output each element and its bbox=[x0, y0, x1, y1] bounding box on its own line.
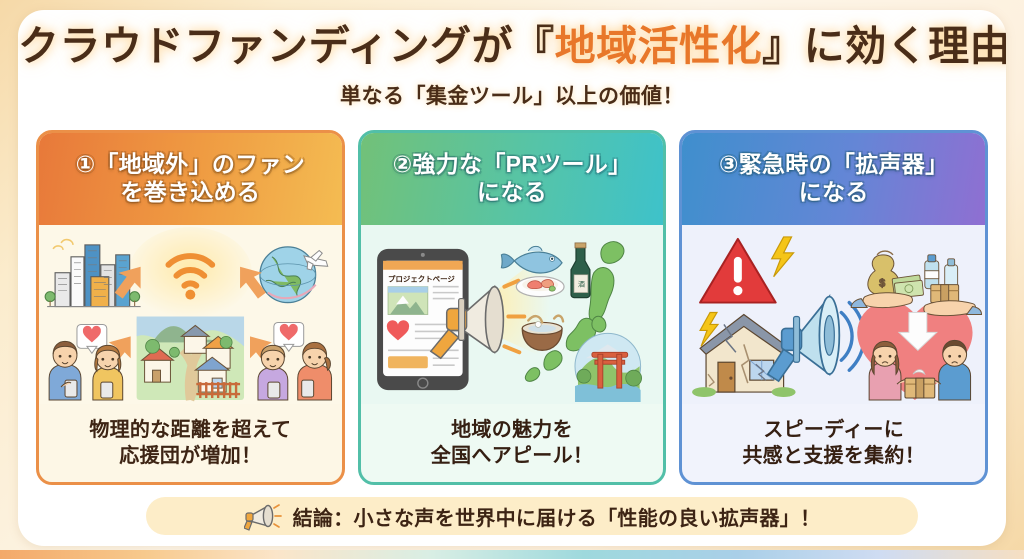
header: クラウドファンディングが『地域活性化』に効く理由 単なる「集金ツール」以上の価値… bbox=[18, 24, 1006, 110]
torii-gate-icon bbox=[575, 333, 642, 402]
card-2-heading-line2: になる bbox=[477, 179, 547, 205]
card-2-caption-line2: 全国へアピール！ bbox=[431, 445, 593, 467]
svg-text:$: $ bbox=[879, 278, 885, 290]
card-1-illustration bbox=[39, 225, 342, 404]
card-1-heading-line1: ①「地域外」のファン bbox=[76, 151, 305, 177]
main-panel: クラウドファンディングが『地域活性化』に効く理由 単なる「集金ツール」以上の価値… bbox=[18, 10, 1006, 546]
title-pre-text: クラウドファンディングが bbox=[18, 23, 513, 69]
card-1[interactable]: ①「地域外」のファン を巻き込める bbox=[36, 130, 345, 485]
card-3-caption-line2: 共感と支援を集約！ bbox=[742, 445, 925, 467]
card-list: ①「地域外」のファン を巻き込める bbox=[36, 130, 988, 485]
card-1-header: ①「地域外」のファン を巻き込める bbox=[39, 133, 342, 225]
card-3-caption-line1: スピーディーに bbox=[763, 419, 904, 441]
card-1-heading: ①「地域外」のファン を巻き込める bbox=[76, 150, 305, 206]
page-title: クラウドファンディングが『地域活性化』に効く理由 bbox=[18, 24, 1006, 70]
card-2[interactable]: ②強力な「PRツール」 になる bbox=[358, 130, 667, 485]
card-1-caption-line1: 物理的な距離を超えて bbox=[89, 419, 291, 441]
card-3-heading-line2: になる bbox=[799, 179, 869, 205]
card-2-illustration: プロジェクトページ bbox=[361, 225, 664, 404]
village-icon bbox=[137, 316, 244, 400]
svg-text:酒: 酒 bbox=[578, 281, 585, 289]
card-3-heading-line1: ③緊急時の「拡声器」 bbox=[719, 151, 948, 177]
wifi-dot-icon bbox=[185, 290, 195, 300]
card-2-heading: ②強力な「PRツール」 になる bbox=[393, 150, 632, 206]
supply-box-icon bbox=[931, 285, 959, 303]
card-3-heading: ③緊急時の「拡声器」 になる bbox=[719, 150, 948, 206]
card-3-illustration: $ bbox=[682, 225, 985, 404]
bottom-accent-bar bbox=[0, 550, 1024, 559]
title-close-bracket: 』 bbox=[762, 23, 804, 69]
infographic-canvas: クラウドファンディングが『地域活性化』に効く理由 単なる「集金ツール」以上の価値… bbox=[0, 0, 1024, 559]
card-1-caption: 物理的な距離を超えて 応援団が増加！ bbox=[39, 404, 342, 482]
sashimi-plate-icon bbox=[516, 277, 564, 297]
title-post-text: に効く理由 bbox=[804, 23, 1006, 69]
card-2-caption: 地域の魅力を 全国へアピール！ bbox=[361, 404, 664, 482]
title-open-bracket: 『 bbox=[513, 23, 555, 69]
card-2-header: ②強力な「PRツール」 になる bbox=[361, 133, 664, 225]
page-subtitle: 単なる「集金ツール」以上の価値！ bbox=[18, 80, 1006, 110]
card-1-heading-line2: を巻き込める bbox=[120, 179, 260, 205]
card-3-caption: スピーディーに 共感と支援を集約！ bbox=[682, 404, 985, 482]
card-2-heading-line1: ②強力な「PRツール」 bbox=[393, 151, 632, 177]
footer-text: 結論：小さな声を世界中に届ける「性能の良い拡声器」！ bbox=[293, 502, 821, 531]
footer-banner: 結論：小さな声を世界中に届ける「性能の良い拡声器」！ bbox=[146, 497, 918, 535]
card-3[interactable]: ③緊急時の「拡声器」 になる bbox=[679, 130, 988, 485]
megaphone-icon bbox=[244, 501, 284, 531]
card-3-header: ③緊急時の「拡声器」 になる bbox=[682, 133, 985, 225]
title-accent-text: 地域活性化 bbox=[555, 23, 763, 69]
card-2-caption-line1: 地域の魅力を bbox=[451, 419, 573, 441]
card-1-caption-line2: 応援団が増加！ bbox=[119, 445, 261, 467]
tablet-label: プロジェクトページ bbox=[388, 274, 455, 284]
